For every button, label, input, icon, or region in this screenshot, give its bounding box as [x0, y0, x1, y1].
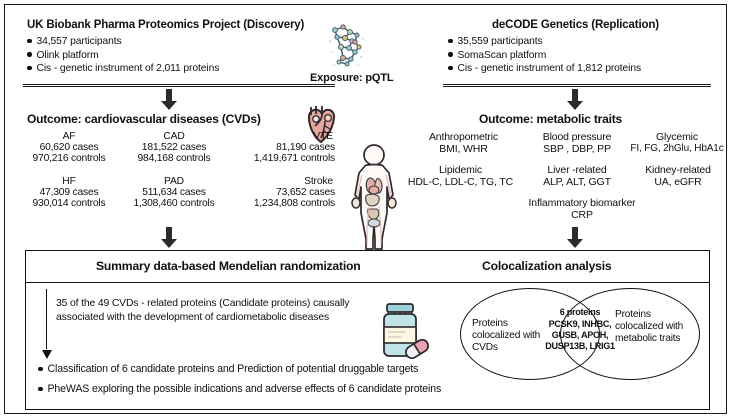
- venn-center-heading: 6 proteins: [537, 307, 623, 318]
- metabolic-group-traits: CRP: [467, 209, 697, 221]
- discovery-title: UK Biobank Pharma Proteomics Project (Di…: [27, 19, 304, 31]
- bullet-dot-icon: [448, 66, 453, 71]
- bullet-dot-icon: [448, 39, 453, 44]
- cvd-stat-name: PAD: [120, 176, 228, 187]
- cvd-stat-controls: 1,234,808 controls: [231, 198, 335, 209]
- cvd-stat-controls: 1,419,671 controls: [231, 153, 335, 164]
- cvd-stat-stroke: Stroke 73,652 cases 1,234,808 controls: [231, 176, 335, 209]
- replication-bullet: SomaScan platform: [448, 50, 703, 61]
- metabolic-group-glycemic: Glycemic FI, FG, 2hGlu, HbA1c: [621, 131, 731, 154]
- metabolic-group-name: Blood pressure: [523, 131, 631, 143]
- discovery-bullet-label: 34,557 participants: [37, 36, 122, 47]
- metabolic-group-lipidemic: Lipidemic HDL-C, LDL-C, TG, TC: [395, 164, 526, 188]
- cvd-stat-cases: 81,190 cases: [231, 142, 335, 153]
- divider-left: [23, 84, 335, 87]
- metabolic-group-name: Lipidemic: [395, 164, 526, 176]
- venn-intersection: 6 proteins PCSK9, INHBC, GUSB, APOH, DUS…: [537, 307, 623, 352]
- analysis-header-bar: Summary data-based Mendelian randomizati…: [26, 251, 709, 283]
- exposure-label: Exposure: pQTL: [310, 72, 393, 84]
- cvd-stat-controls: 1,308,460 controls: [120, 198, 228, 209]
- mr-title: Summary data-based Mendelian randomizati…: [96, 259, 361, 273]
- replication-bullet-label: 35,559 participants: [458, 36, 543, 47]
- discovery-bullet-label: Cis - genetic instrument of 2,011 protei…: [37, 63, 220, 74]
- replication-title: deCODE Genetics (Replication): [448, 19, 703, 31]
- venn-diagram: Proteins colocalized with CVDs Proteins …: [460, 288, 710, 383]
- coloc-title: Colocalization analysis: [482, 259, 612, 273]
- bullet-dot-icon: [27, 66, 32, 71]
- metabolic-group-traits: HDL-C, LDL-C, TG, TC: [395, 176, 526, 188]
- bullet-dot-icon: [27, 39, 32, 44]
- protein-network-icon: [321, 21, 369, 74]
- venn-center-proteins: PCSK9, INHBC, GUSB, APOH, DUSP13B, LRIG1: [537, 319, 623, 352]
- bullet-dot-icon: [27, 52, 32, 57]
- pill-bottle-icon: [375, 301, 433, 368]
- conclusion-label: Classification of 6 candidate proteins a…: [48, 363, 419, 375]
- cvd-stat-name: HF: [23, 176, 115, 187]
- replication-bullet: Cis - genetic instrument of 1,812 protei…: [448, 63, 703, 74]
- discovery-bullet: 34,557 participants: [27, 36, 304, 47]
- cvd-outcome-title: Outcome: cardiovascular diseases (CVDs): [27, 112, 261, 126]
- discovery-cohort-panel: UK Biobank Pharma Proteomics Project (Di…: [27, 19, 304, 74]
- conclusion-label: PheWAS exploring the possible indication…: [48, 383, 442, 395]
- metabolic-group-traits: BMI, WHR: [401, 143, 526, 155]
- metabolic-group-kidney: Kidney-related UA, eGFR: [623, 164, 731, 188]
- conclusion-item: Classification of 6 candidate proteins a…: [38, 363, 441, 375]
- bullet-dot-icon: [38, 387, 43, 392]
- venn-left-label: Proteins colocalized with CVDs: [472, 318, 544, 354]
- metabolic-group-name: Anthropometric: [401, 131, 526, 143]
- cvd-stat-cases: 181,522 cases: [120, 142, 228, 153]
- metabolic-group-inflammatory: Inflammatory biomarker CRP: [467, 197, 697, 221]
- cvd-stat-hf: HF 47,309 cases 930,014 controls: [23, 176, 115, 209]
- bullet-dot-icon: [448, 52, 453, 57]
- replication-cohort-panel: deCODE Genetics (Replication) 35,559 par…: [448, 19, 703, 74]
- cvd-stat-controls: 984,168 controls: [120, 153, 228, 164]
- bullet-dot-icon: [38, 367, 43, 372]
- metabolic-group-name: Glycemic: [621, 131, 731, 143]
- metabolic-group-name: Kidney-related: [623, 164, 731, 176]
- replication-bullet-label: SomaScan platform: [458, 50, 547, 61]
- cvd-stat-vte: VTE 81,190 cases 1,419,671 controls: [231, 131, 335, 164]
- divider-right: [443, 84, 711, 87]
- cvd-stat-name: CAD: [120, 131, 228, 142]
- cvd-stat-pad: PAD 511,634 cases 1,308,460 controls: [120, 176, 228, 209]
- conclusion-item: PheWAS exploring the possible indication…: [38, 383, 441, 395]
- cvd-stat-af: AF 60,620 cases 970,216 controls: [23, 131, 115, 164]
- mr-result-text: 35 of the 49 CVDs - related proteins (Ca…: [56, 297, 356, 324]
- metabolic-group-name: Inflammatory biomarker: [467, 197, 697, 209]
- cvd-stat-controls: 930,014 controls: [23, 198, 115, 209]
- discovery-bullet-label: Olink platform: [37, 50, 99, 61]
- cvd-stat-name: Stroke: [231, 176, 335, 187]
- metabolic-group-blood-pressure: Blood pressure SBP , DBP, PP: [523, 131, 631, 155]
- conclusion-list: Classification of 6 candidate proteins a…: [38, 363, 441, 395]
- discovery-bullet: Cis - genetic instrument of 2,011 protei…: [27, 63, 304, 74]
- metabolic-group-traits: FI, FG, 2hGlu, HbA1c: [621, 143, 731, 154]
- cvd-stat-cad: CAD 181,522 cases 984,168 controls: [120, 131, 228, 164]
- replication-bullet-label: Cis - genetic instrument of 1,812 protei…: [458, 63, 642, 74]
- cvd-stat-cases: 60,620 cases: [23, 142, 115, 153]
- discovery-bullet: Olink platform: [27, 50, 304, 61]
- metabolic-group-traits: UA, eGFR: [623, 176, 731, 188]
- cvd-stat-cases: 73,652 cases: [231, 187, 335, 198]
- replication-bullet: 35,559 participants: [448, 36, 703, 47]
- mr-connector-line: [46, 289, 47, 349]
- metabolic-group-anthropometric: Anthropometric BMI, WHR: [401, 131, 526, 155]
- cvd-stat-cases: 511,634 cases: [120, 187, 228, 198]
- metabolic-group-traits: ALP, ALT, GGT: [523, 176, 631, 188]
- cvd-stat-name: VTE: [231, 131, 335, 142]
- metabolic-group-name: Liver -related: [523, 164, 631, 176]
- cvd-stat-cases: 47,309 cases: [23, 187, 115, 198]
- metabolic-group-liver: Liver -related ALP, ALT, GGT: [523, 164, 631, 188]
- cvd-stat-controls: 970,216 controls: [23, 153, 115, 164]
- human-body-icon: [341, 143, 407, 260]
- figure-frame: UK Biobank Pharma Proteomics Project (Di…: [4, 4, 727, 414]
- metabolic-group-traits: SBP , DBP, PP: [523, 143, 631, 155]
- metabolic-outcome-title: Outcome: metabolic traits: [479, 112, 622, 126]
- cvd-stat-name: AF: [23, 131, 115, 142]
- venn-right-label: Proteins colocalized with metabolic trai…: [615, 309, 693, 345]
